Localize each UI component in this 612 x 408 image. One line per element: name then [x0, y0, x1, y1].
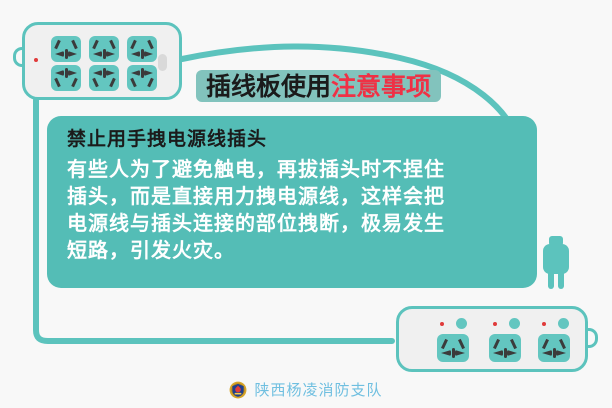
socket[interactable]	[489, 334, 521, 362]
plug-prong	[548, 272, 554, 289]
power-led-indicator	[493, 322, 497, 326]
card-body-line-2: 插头，而是直接用力拽电源线，这样会把	[67, 183, 517, 210]
title-text-red: 注意事项	[331, 74, 431, 99]
card-body-line-1: 有些人为了避免触电，再拔插头时不捏住	[67, 156, 517, 183]
two-prong-plug[interactable]	[543, 244, 569, 274]
footer: 陕西杨凌消防支队	[0, 379, 612, 400]
socket[interactable]	[89, 36, 119, 62]
footer-org-label: 陕西杨凌消防支队	[254, 379, 382, 400]
card-body-line-4: 短路，引发火灾。	[67, 237, 517, 264]
fire-department-badge-icon	[229, 381, 247, 399]
power-switch-round[interactable]	[509, 318, 520, 329]
socket[interactable]	[538, 334, 570, 362]
poster-canvas: 插线板使用 注意事项 禁止用手拽电源线插头 有些人为了避免触电，再拔插头时不捏住…	[0, 0, 612, 408]
poster-title-badge: 插线板使用 注意事项	[196, 70, 441, 102]
power-switch-round[interactable]	[558, 318, 569, 329]
plug-prong	[558, 272, 564, 289]
card-body-line-3: 电源线与插头连接的部位拽断，极易发生	[67, 210, 517, 237]
socket[interactable]	[127, 65, 157, 91]
socket[interactable]	[51, 65, 81, 91]
power-led-indicator	[440, 322, 444, 326]
card-heading: 禁止用手拽电源线插头	[67, 128, 517, 152]
safety-message-card: 禁止用手拽电源线插头 有些人为了避免触电，再拔插头时不捏住 插头，而是直接用力拽…	[47, 116, 537, 288]
power-strip-6-socket[interactable]	[22, 22, 182, 100]
power-switch-round[interactable]	[456, 318, 467, 329]
power-led-indicator	[542, 322, 546, 326]
socket[interactable]	[127, 36, 157, 62]
socket[interactable]	[437, 334, 469, 362]
power-switch-oval[interactable]	[158, 54, 167, 71]
socket[interactable]	[89, 65, 119, 91]
socket[interactable]	[51, 36, 81, 62]
power-strip-3-socket[interactable]	[396, 306, 588, 372]
power-led-indicator	[34, 58, 38, 62]
title-text-black: 插线板使用	[206, 74, 331, 99]
